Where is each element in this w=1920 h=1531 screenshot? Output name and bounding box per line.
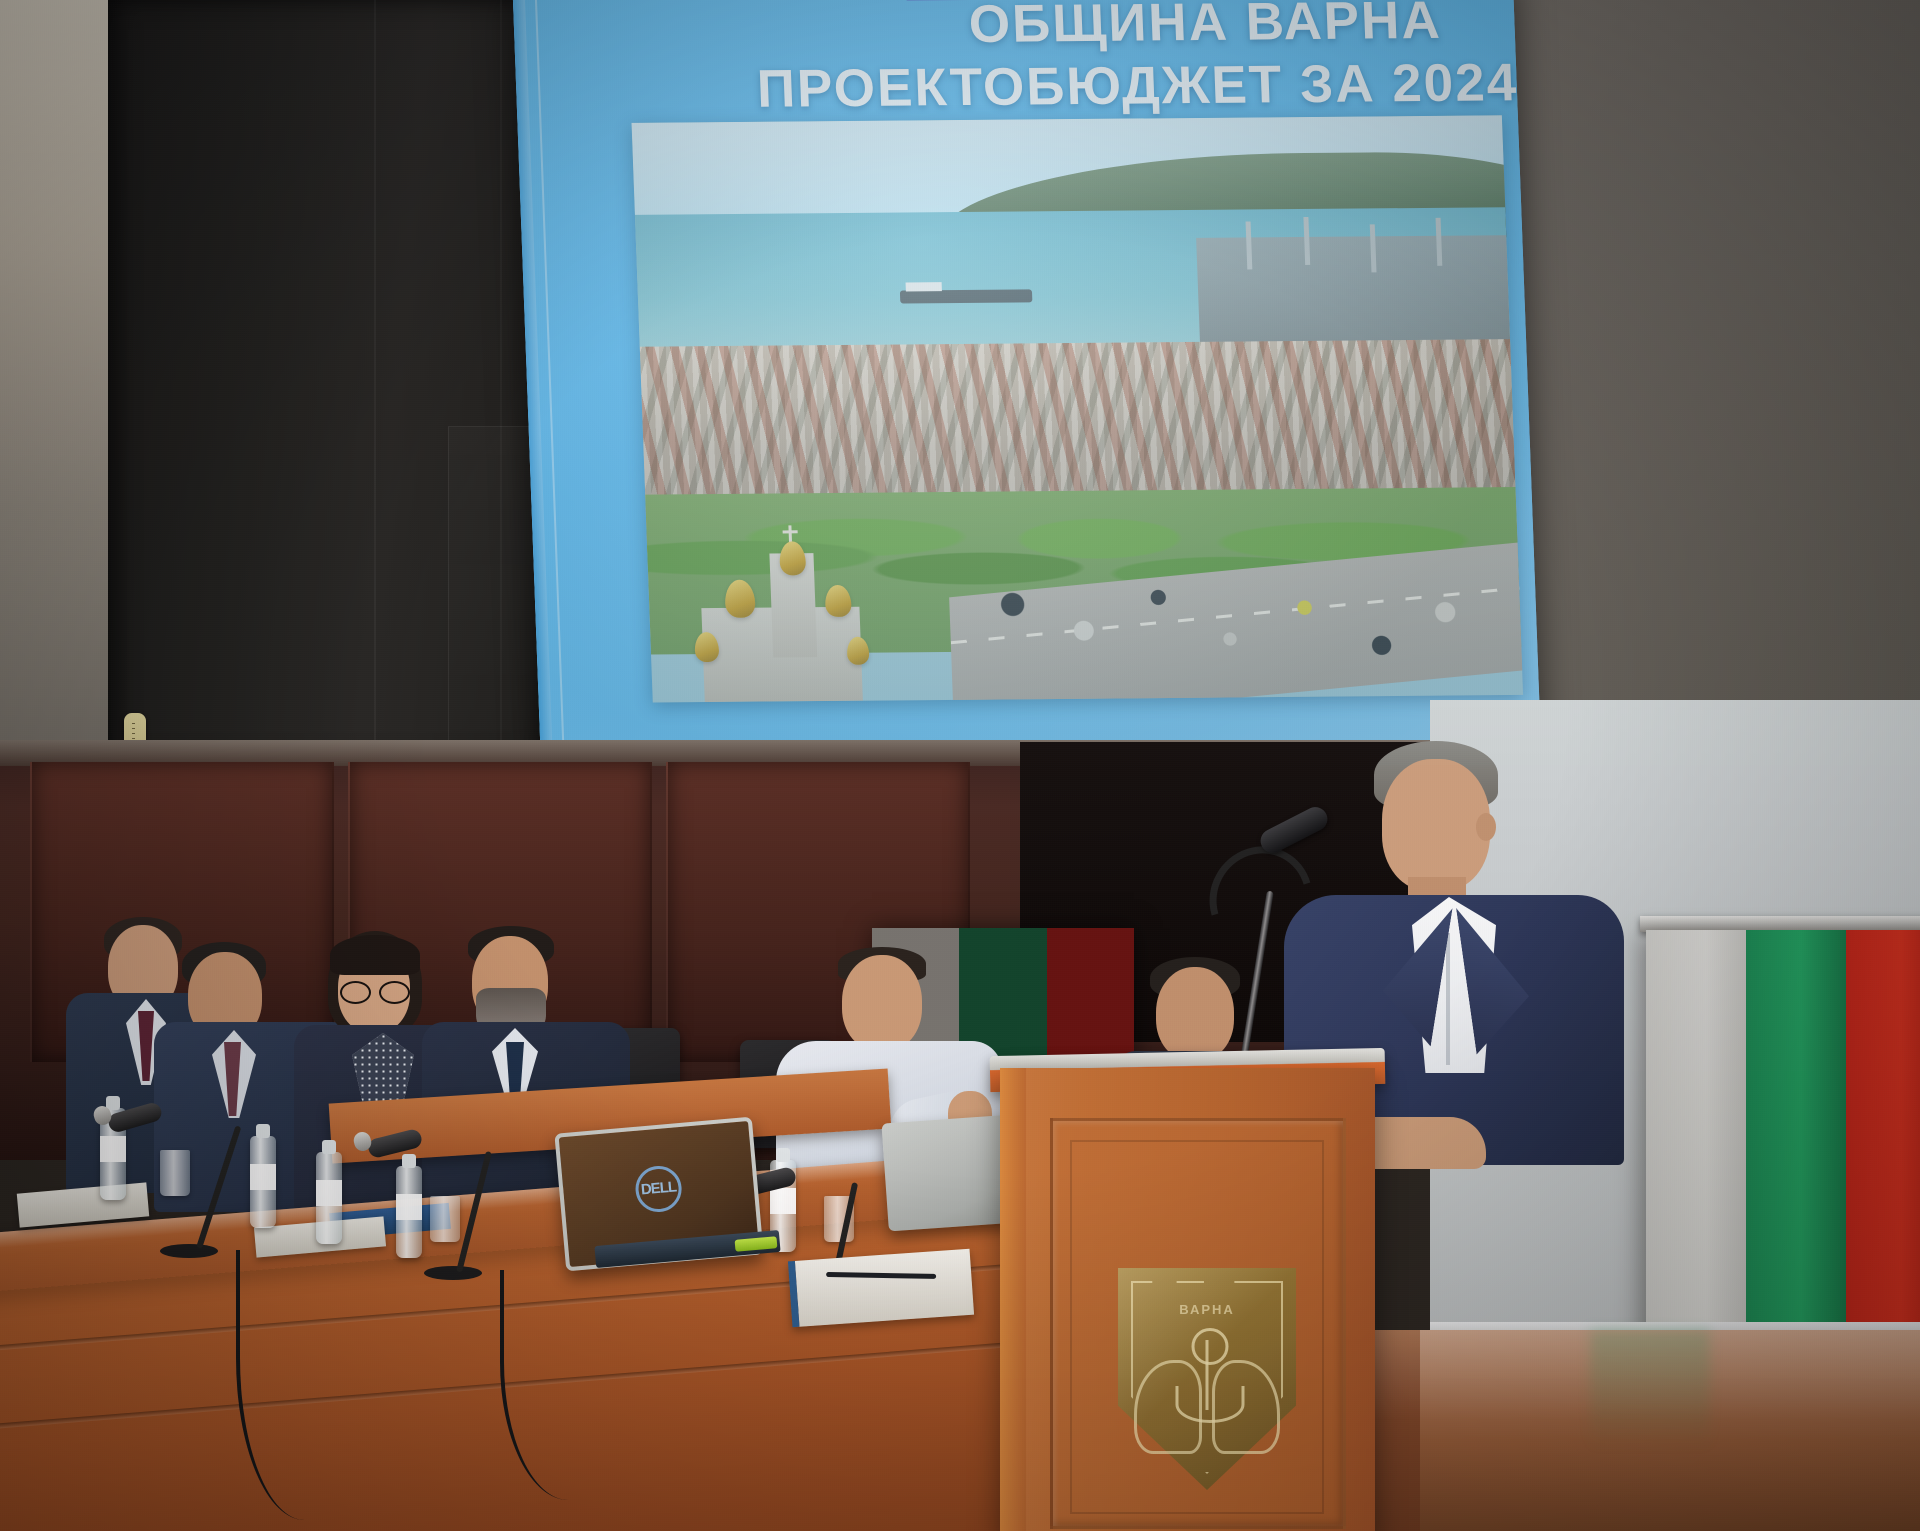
desk-microphone-base xyxy=(160,1244,218,1258)
projection-screen: ОБЩИНА ВАРНА ПРОЕКТОБЮДЖЕТ ЗА 2024 г. xyxy=(512,0,1541,757)
ear xyxy=(1476,813,1496,841)
dark-stage-panel xyxy=(108,0,560,766)
open-notebook xyxy=(788,1249,974,1328)
face xyxy=(842,955,922,1051)
drinking-glass xyxy=(160,1150,190,1196)
water-bottle xyxy=(316,1152,342,1244)
plaque-glint xyxy=(1118,1268,1296,1490)
conference-photo-scene: ОБЩИНА ВАРНА ПРОЕКТОБЮДЖЕТ ЗА 2024 г. xyxy=(0,0,1920,1531)
drinking-glass xyxy=(430,1196,460,1242)
projected-slide: ОБЩИНА ВАРНА ПРОЕКТОБЮДЖЕТ ЗА 2024 г. xyxy=(512,0,1541,757)
flag-stripe-red xyxy=(1846,930,1920,1340)
desk-microphone-base xyxy=(424,1266,482,1280)
glasses-icon xyxy=(340,981,410,1000)
bulgarian-flag xyxy=(1646,930,1920,1340)
shirt-placket xyxy=(1446,933,1450,1065)
face xyxy=(1156,967,1234,1061)
dell-logo-icon: DELL xyxy=(634,1164,684,1214)
projector-hotspot xyxy=(512,0,1541,757)
water-bottle xyxy=(250,1136,276,1228)
face xyxy=(1382,759,1490,891)
flag-stripe-white xyxy=(1646,930,1746,1340)
left-wall-strip xyxy=(0,0,110,780)
hair-fringe xyxy=(330,935,420,975)
podium-left-edge xyxy=(1000,1068,1026,1531)
varna-coat-of-arms-plaque: ВАРНА xyxy=(1118,1268,1296,1490)
water-bottle xyxy=(396,1166,422,1258)
flag-stripe-green xyxy=(1746,930,1846,1340)
